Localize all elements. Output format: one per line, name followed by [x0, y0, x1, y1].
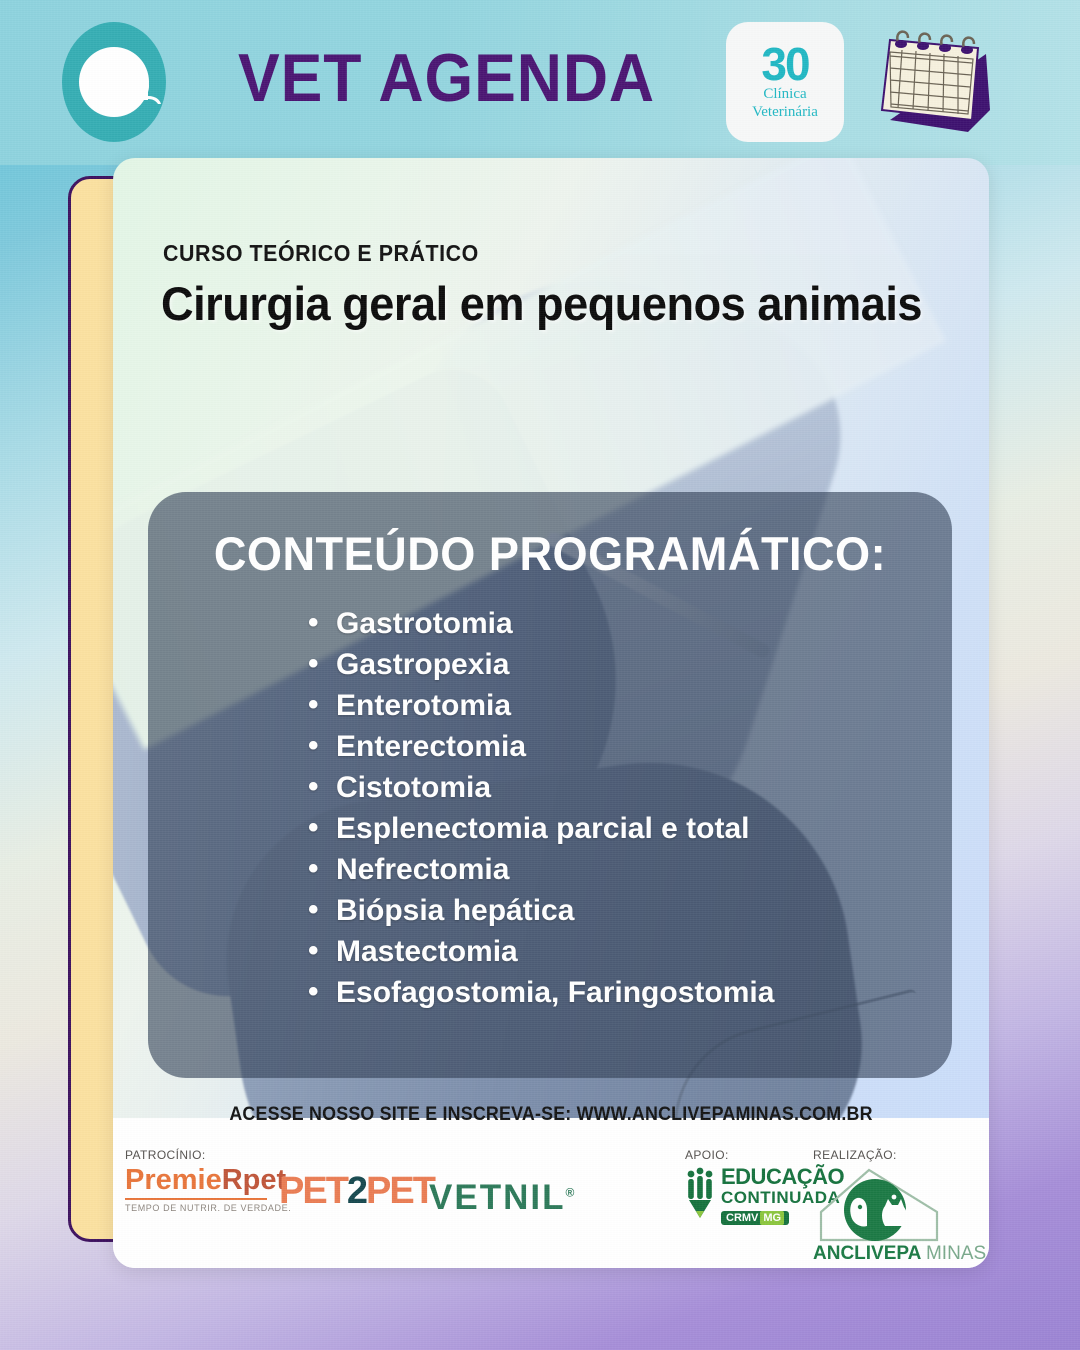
premierpet-part1: Premie	[125, 1164, 222, 1196]
premierpet-tagline: TEMPO DE NUTRIR. DE VERDADE.	[125, 1203, 291, 1213]
organizer-anclivepa-minas: REALIZAÇÃO:	[813, 1148, 986, 1263]
programme-title: CONTEÚDO PROGRAMÁTICO:	[164, 526, 936, 581]
pet2pet-logo: PET2PET	[279, 1172, 434, 1210]
course-title: Cirurgia geral em pequenos animais	[161, 276, 922, 331]
pet2pet-part2: PET	[366, 1170, 434, 1212]
dog-cat-circle-icon	[62, 22, 166, 142]
page-title: VET AGENDA	[238, 44, 655, 112]
list-item: Biópsia hepática	[308, 890, 952, 931]
clinic-label-line2: Veterinária	[752, 105, 818, 121]
list-item: Esplenectomia parcial e total	[308, 808, 952, 849]
list-item: Gastropexia	[308, 644, 952, 685]
list-item: Mastectomia	[308, 931, 952, 972]
vetnil-word: VETNIL	[429, 1178, 565, 1217]
sponsor-vetnil: VETNIL®	[429, 1180, 576, 1215]
desk-calendar-icon	[868, 24, 996, 140]
programme-overlay: CONTEÚDO PROGRAMÁTICO: Gastrotomia Gastr…	[148, 492, 952, 1078]
list-item: Gastrotomia	[308, 603, 952, 644]
list-item: Esofagostomia, Faringostomia	[308, 972, 952, 1013]
list-item: Enterotomia	[308, 685, 952, 726]
pet2pet-part1: PET	[279, 1170, 347, 1212]
programme-list: Gastrotomia Gastropexia Enterotomia Ente…	[148, 603, 952, 1013]
premierpet-logo: PremieRpet	[125, 1166, 291, 1195]
organizer-caption: REALIZAÇÃO:	[813, 1148, 986, 1162]
anclivepa-wordmark: ANCLIVEPA MINAS	[813, 1244, 986, 1263]
list-item: Cistotomia	[308, 767, 952, 808]
crmv-badge: CRMVMG	[721, 1211, 789, 1225]
list-item: Nefrectomia	[308, 849, 952, 890]
clinic-anniversary-number: 30	[761, 44, 808, 85]
crmv-state: MG	[760, 1211, 784, 1225]
course-kicker: CURSO TEÓRICO E PRÁTICO	[163, 240, 479, 267]
poster-footer: ACESSE NOSSO SITE E INSCREVA-SE: WWW.ANC…	[113, 1118, 989, 1268]
sponsor-pet2pet: PET2PET	[279, 1172, 434, 1210]
premierpet-part2: Rpet	[222, 1164, 286, 1196]
vetnil-logo: VETNIL®	[429, 1180, 576, 1215]
premierpet-rule	[125, 1198, 267, 1200]
website-line[interactable]: ACESSE NOSSO SITE E INSCREVA-SE: WWW.ANC…	[139, 1104, 962, 1126]
anclivepa-name1: ANCLIVEPA	[813, 1243, 921, 1264]
vetnil-registered-mark: ®	[565, 1185, 576, 1199]
clinic-30-years-logo: 30 Clínica Veterinária	[726, 22, 844, 142]
logo-row: PATROCÍNIO: PremieRpet TEMPO DE NUTRIR. …	[113, 1136, 989, 1256]
pencil-people-icon	[685, 1166, 715, 1220]
sponsor-premierpet: PATROCÍNIO: PremieRpet TEMPO DE NUTRIR. …	[125, 1148, 291, 1213]
sponsor-caption: PATROCÍNIO:	[125, 1148, 291, 1162]
pet2pet-number: 2	[347, 1170, 366, 1212]
course-poster-card: CURSO TEÓRICO E PRÁTICO Cirurgia geral e…	[113, 158, 989, 1268]
anclivepa-name2: MINAS	[926, 1243, 986, 1264]
anclivepa-house-pets-icon	[813, 1166, 945, 1242]
crmv-label: CRMV	[726, 1212, 758, 1224]
list-item: Enterectomia	[308, 726, 952, 767]
